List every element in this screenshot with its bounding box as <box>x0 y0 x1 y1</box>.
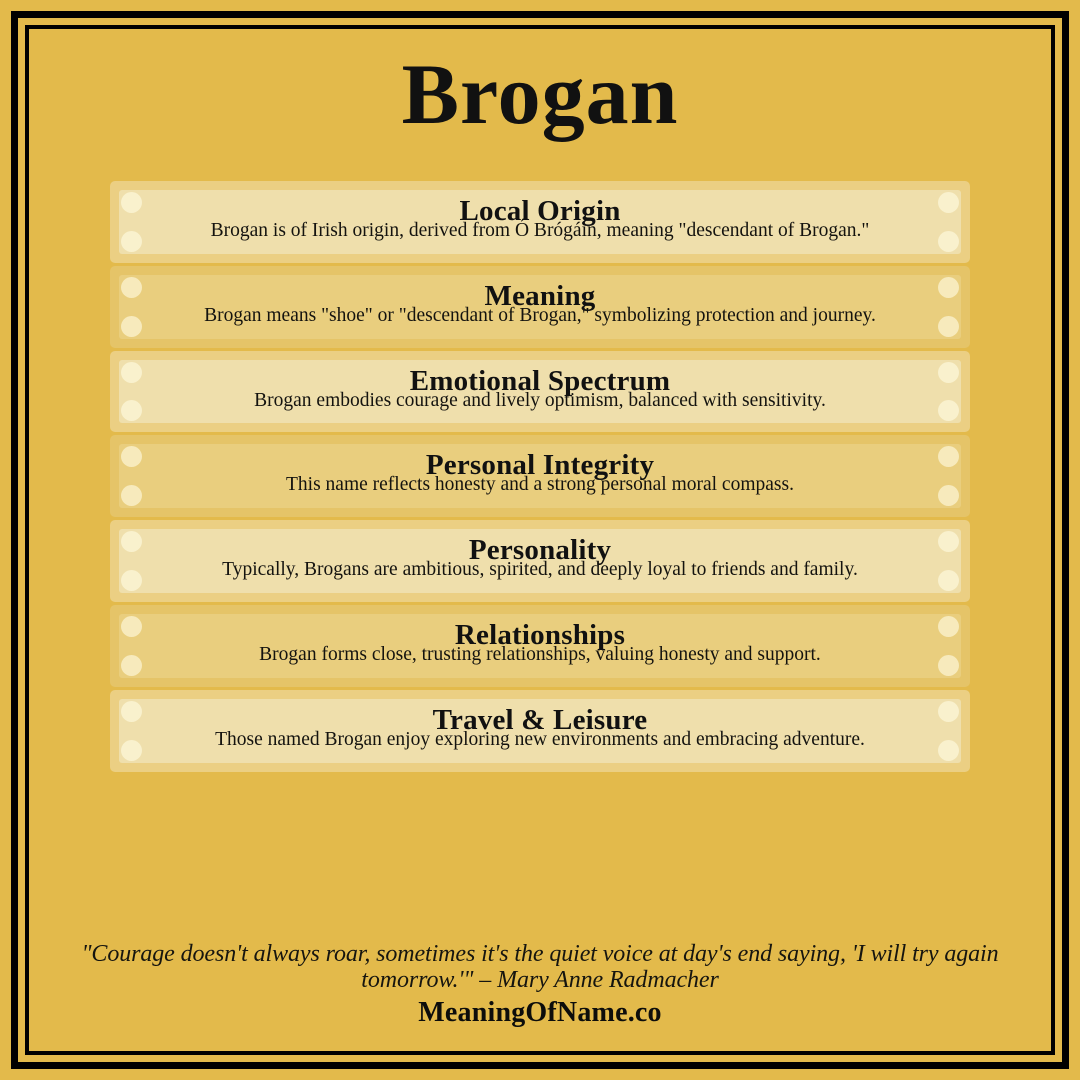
rivet-icon <box>121 400 142 421</box>
section-card: RelationshipsBrogan forms close, trustin… <box>110 605 970 687</box>
rivet-icon <box>121 446 142 467</box>
section-card: PersonalityTypically, Brogans are ambiti… <box>110 520 970 602</box>
section-card-panel: MeaningBrogan means "shoe" or "descendan… <box>119 275 961 339</box>
rivet-icon <box>121 531 142 552</box>
rivet-icon <box>938 485 959 506</box>
rivet-icon <box>121 485 142 506</box>
section-card: MeaningBrogan means "shoe" or "descendan… <box>110 266 970 348</box>
brand-watermark: MeaningOfName.co <box>37 997 1043 1029</box>
rivet-icon <box>121 570 142 591</box>
name-meaning-poster: Brogan Local OriginBrogan is of Irish or… <box>0 0 1080 1080</box>
rivet-icon <box>938 570 959 591</box>
rivet-icon <box>121 616 142 637</box>
rivet-icon <box>938 316 959 337</box>
rivet-icon <box>938 277 959 298</box>
rivet-icon <box>121 655 142 676</box>
section-card: Personal IntegrityThis name reflects hon… <box>110 435 970 517</box>
section-body-text: Brogan forms close, trusting relationshi… <box>259 644 821 666</box>
rivet-icon <box>938 531 959 552</box>
section-body-text: Brogan embodies courage and lively optim… <box>254 390 826 412</box>
rivet-icon <box>121 192 142 213</box>
section-card-panel: Travel & LeisureThose named Brogan enjoy… <box>119 699 961 763</box>
rivet-icon <box>938 192 959 213</box>
rivet-icon <box>938 616 959 637</box>
section-body-text: Brogan is of Irish origin, derived from … <box>211 220 870 242</box>
rivet-icon <box>938 655 959 676</box>
section-card-panel: Local OriginBrogan is of Irish origin, d… <box>119 190 961 254</box>
section-card: Local OriginBrogan is of Irish origin, d… <box>110 181 970 263</box>
section-body-text: Typically, Brogans are ambitious, spirit… <box>222 559 858 581</box>
section-card: Travel & LeisureThose named Brogan enjoy… <box>110 690 970 772</box>
section-card-panel: RelationshipsBrogan forms close, trustin… <box>119 614 961 678</box>
section-card-list: Local OriginBrogan is of Irish origin, d… <box>29 181 1051 772</box>
rivet-icon <box>938 740 959 761</box>
rivet-icon <box>121 277 142 298</box>
section-card-panel: Personal IntegrityThis name reflects hon… <box>119 444 961 508</box>
rivet-icon <box>121 362 142 383</box>
rivet-icon <box>121 740 142 761</box>
rivet-icon <box>121 701 142 722</box>
rivet-icon <box>938 400 959 421</box>
poster-content: Brogan Local OriginBrogan is of Irish or… <box>29 29 1051 1051</box>
poster-footer: "Courage doesn't always roar, sometimes … <box>29 942 1051 1051</box>
section-card-panel: Emotional SpectrumBrogan embodies courag… <box>119 360 961 424</box>
section-card-panel: PersonalityTypically, Brogans are ambiti… <box>119 529 961 593</box>
rivet-icon <box>938 446 959 467</box>
rivet-icon <box>121 231 142 252</box>
footer-quote: "Courage doesn't always roar, sometimes … <box>37 942 1043 994</box>
rivet-icon <box>938 701 959 722</box>
section-card: Emotional SpectrumBrogan embodies courag… <box>110 351 970 433</box>
rivet-icon <box>938 362 959 383</box>
section-body-text: Those named Brogan enjoy exploring new e… <box>215 729 865 751</box>
rivet-icon <box>121 316 142 337</box>
rivet-icon <box>938 231 959 252</box>
section-body-text: Brogan means "shoe" or "descendant of Br… <box>204 305 876 327</box>
section-body-text: This name reflects honesty and a strong … <box>286 474 794 496</box>
page-title: Brogan <box>29 51 1051 137</box>
